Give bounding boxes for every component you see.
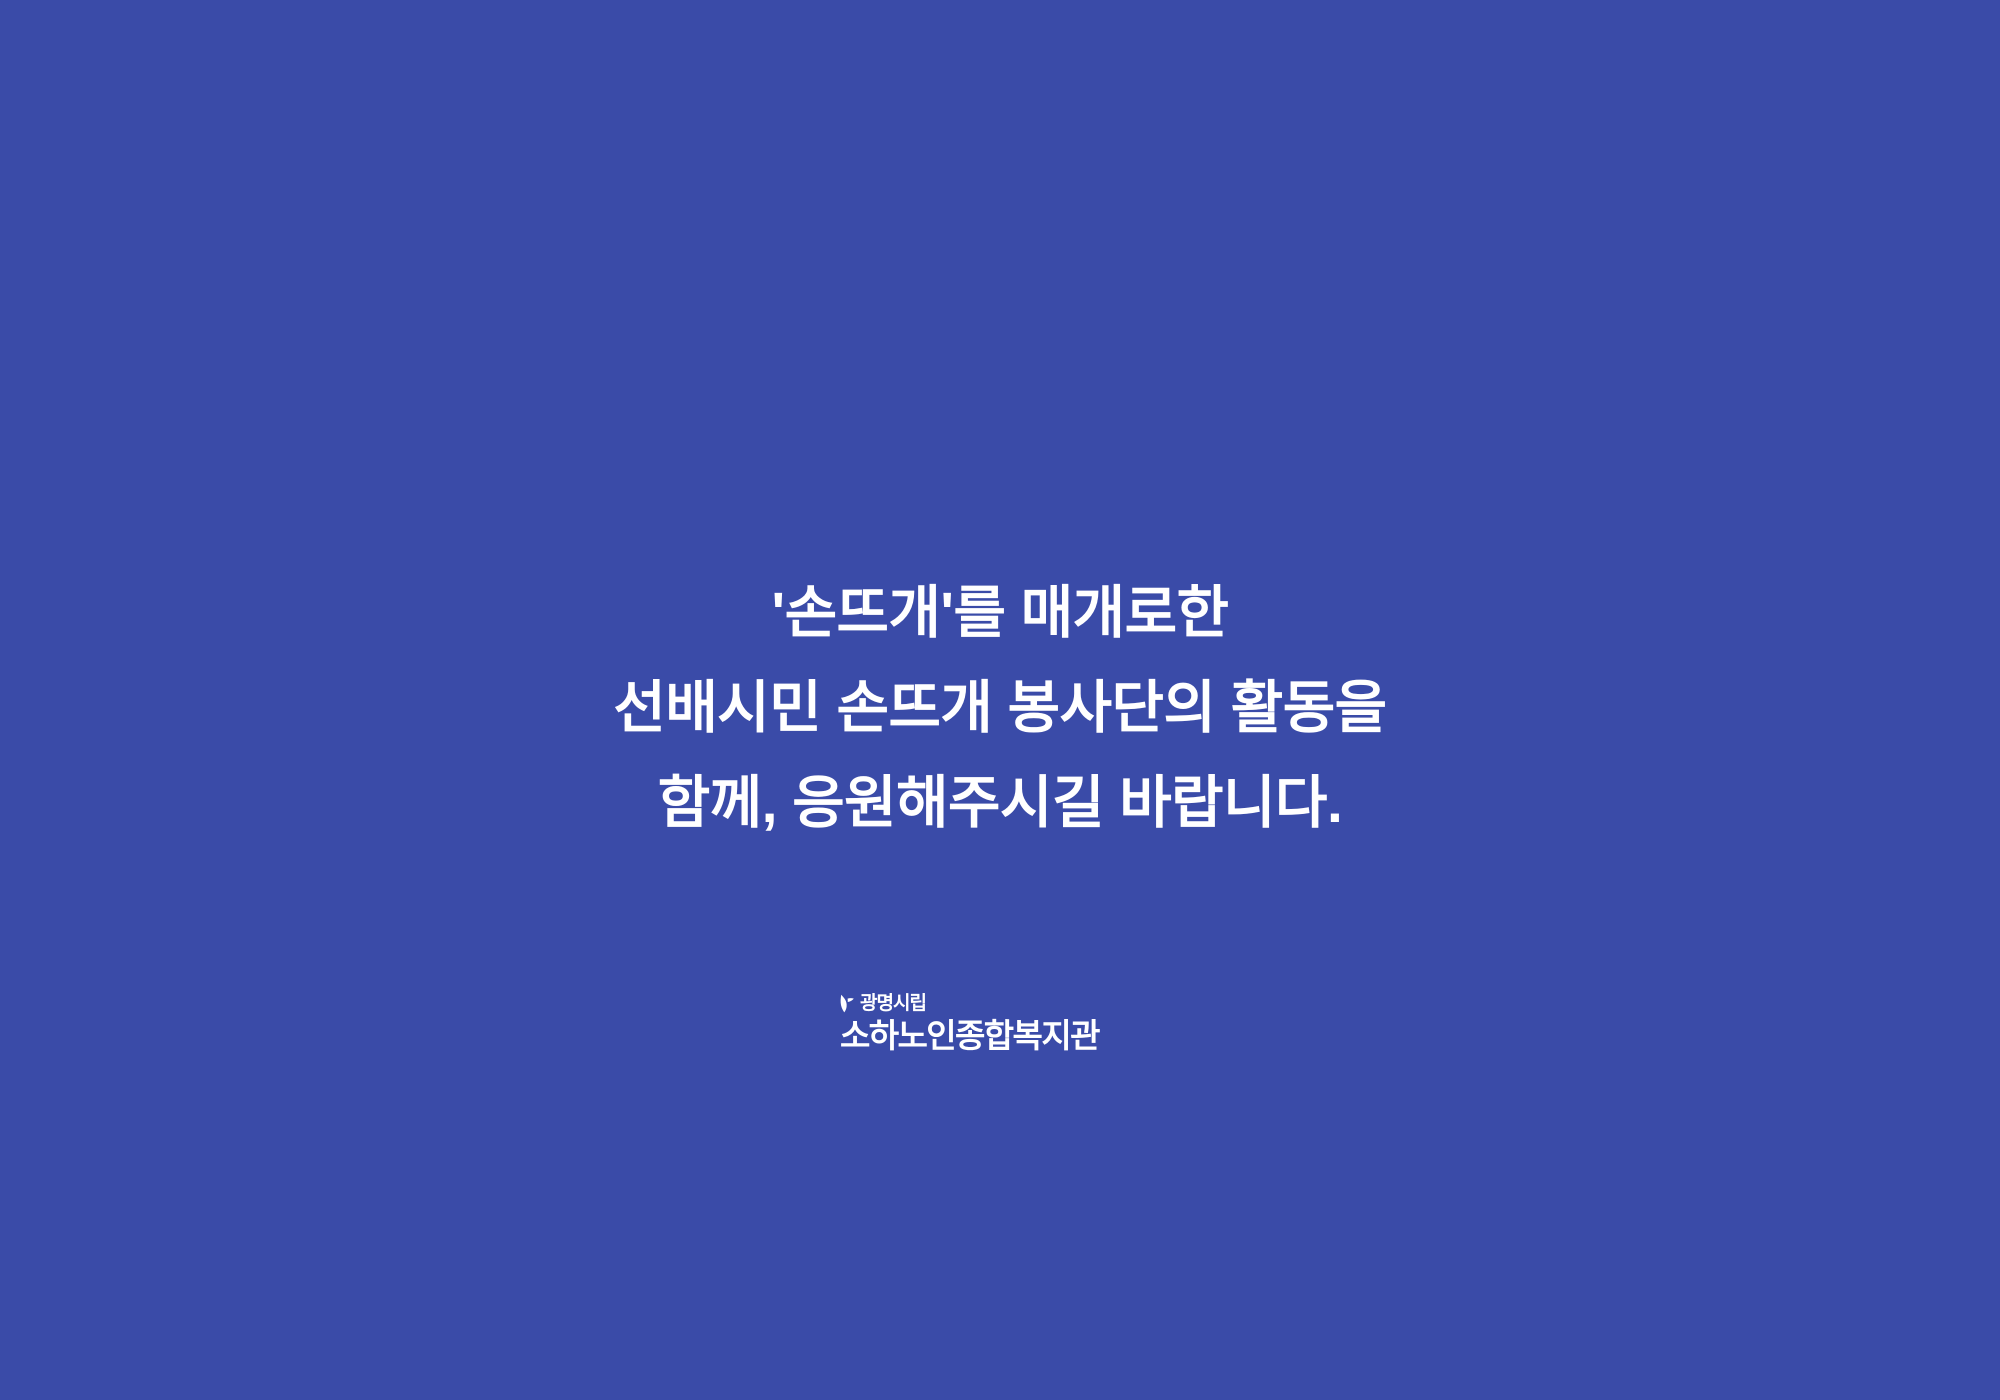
message-line-2: 선배시민 손뜨개 봉사단의 활동을 — [0, 661, 2000, 756]
leaf-bird-mark-icon — [840, 994, 855, 1014]
logo-sub-name: 광명시립 — [860, 994, 926, 1014]
message-line-3: 함께, 응원해주시길 바랍니다. — [0, 756, 2000, 851]
logo-main-name: 소하노인종합복지관 — [840, 1018, 1170, 1054]
message-block: '손뜨개'를 매개로한 선배시민 손뜨개 봉사단의 활동을 함께, 응원해주시길… — [0, 566, 2000, 851]
slide-canvas: '손뜨개'를 매개로한 선배시민 손뜨개 봉사단의 활동을 함께, 응원해주시길… — [0, 0, 2000, 1400]
message-line-1: '손뜨개'를 매개로한 — [0, 566, 2000, 661]
organization-logo: 광명시립 소하노인종합복지관 — [840, 992, 1170, 1054]
logo-top-row: 광명시립 — [840, 992, 1170, 1016]
